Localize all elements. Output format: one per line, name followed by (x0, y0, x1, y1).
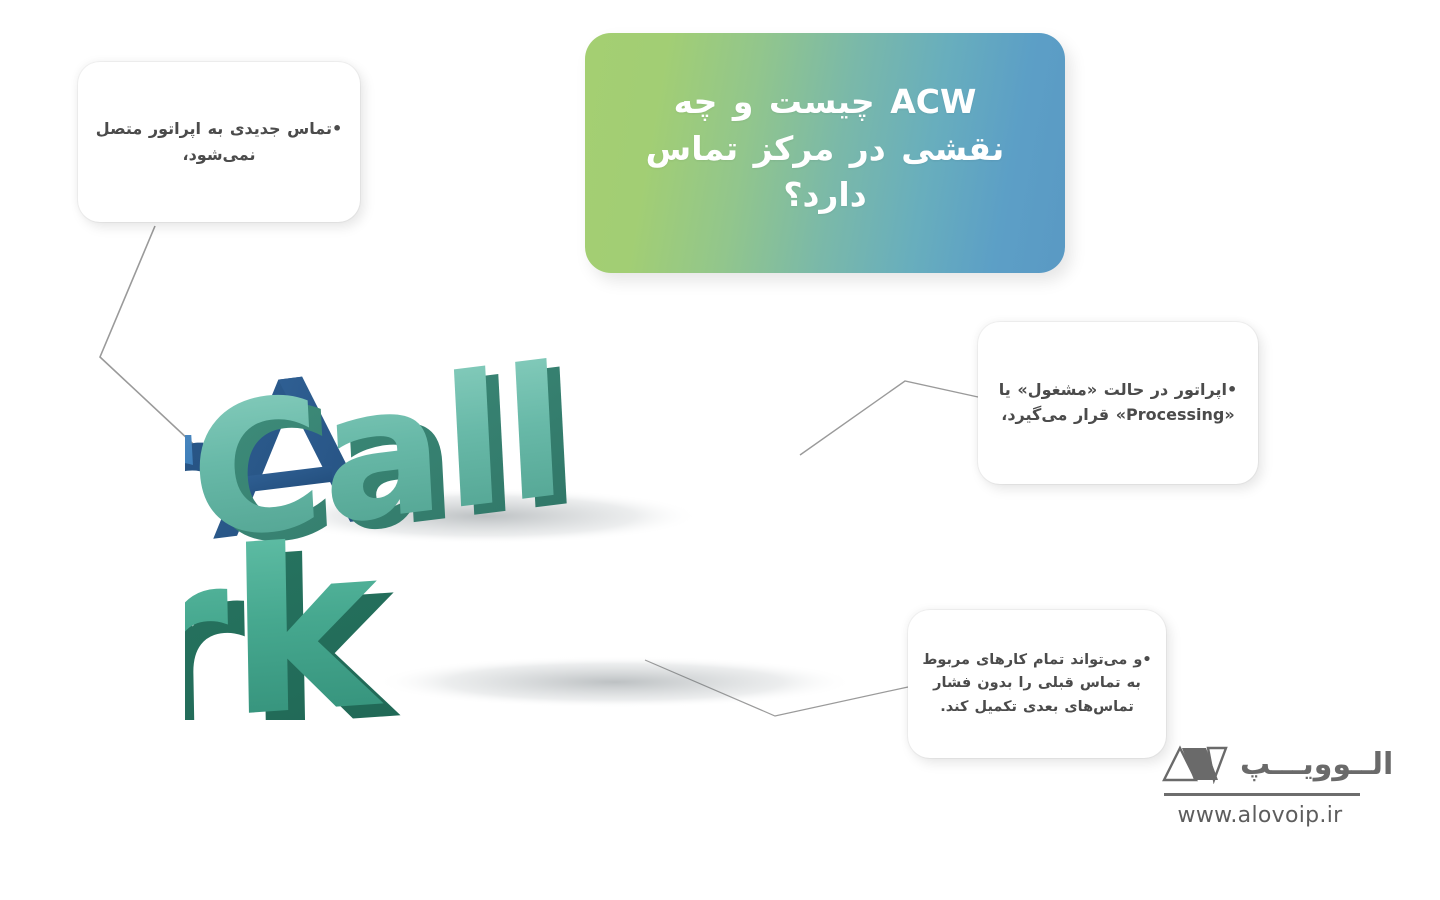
svg-text:After: After (185, 364, 200, 652)
svg-text:Call: Call (199, 335, 584, 591)
infographic-canvas: ACW چیست و چه نقشی در مرکز تماس دارد؟ •ت… (0, 0, 1440, 900)
title-card: ACW چیست و چه نقشی در مرکز تماس دارد؟ (585, 33, 1065, 273)
connector-operator-status (800, 381, 978, 455)
brand-url: www.alovoip.ir (1160, 803, 1360, 828)
callout-operator-status-text: •اپراتور در حالت «مشغول» یا «Processing»… (992, 378, 1244, 428)
connector-new-call (100, 226, 205, 455)
callout-complete-work: •و می‌تواند تمام کارهای مربوط به تماس قب… (908, 610, 1166, 758)
svg-text:Call: Call (186, 330, 571, 582)
brand-row: الــوویـــپ (1160, 742, 1360, 788)
callout-operator-status: •اپراتور در حالت «مشغول» یا «Processing»… (978, 322, 1258, 484)
brand-divider (1164, 793, 1360, 796)
page-title: ACW چیست و چه نقشی در مرکز تماس دارد؟ (619, 79, 1031, 220)
callout-complete-work-text: •و می‌تواند تمام کارهای مربوط به تماس قب… (922, 649, 1152, 719)
connector-complete-work (645, 660, 908, 716)
svg-text:After: After (185, 371, 212, 659)
brand-name-fa: الــوویـــپ (1240, 750, 1393, 780)
svg-text:Work: Work (185, 495, 386, 720)
brand-block: الــوویـــپ www.alovoip.ir (1160, 742, 1360, 828)
after-call-work-3d-graphic: After After Call Call Work Work (185, 330, 905, 720)
svg-text:Work: Work (185, 507, 402, 720)
callout-new-call-text: •تماس جدیدی به اپراتور متصل نمی‌شود، (92, 116, 346, 167)
av-monogram-logo-icon (1160, 742, 1230, 788)
callout-new-call: •تماس جدیدی به اپراتور متصل نمی‌شود، (78, 62, 360, 222)
